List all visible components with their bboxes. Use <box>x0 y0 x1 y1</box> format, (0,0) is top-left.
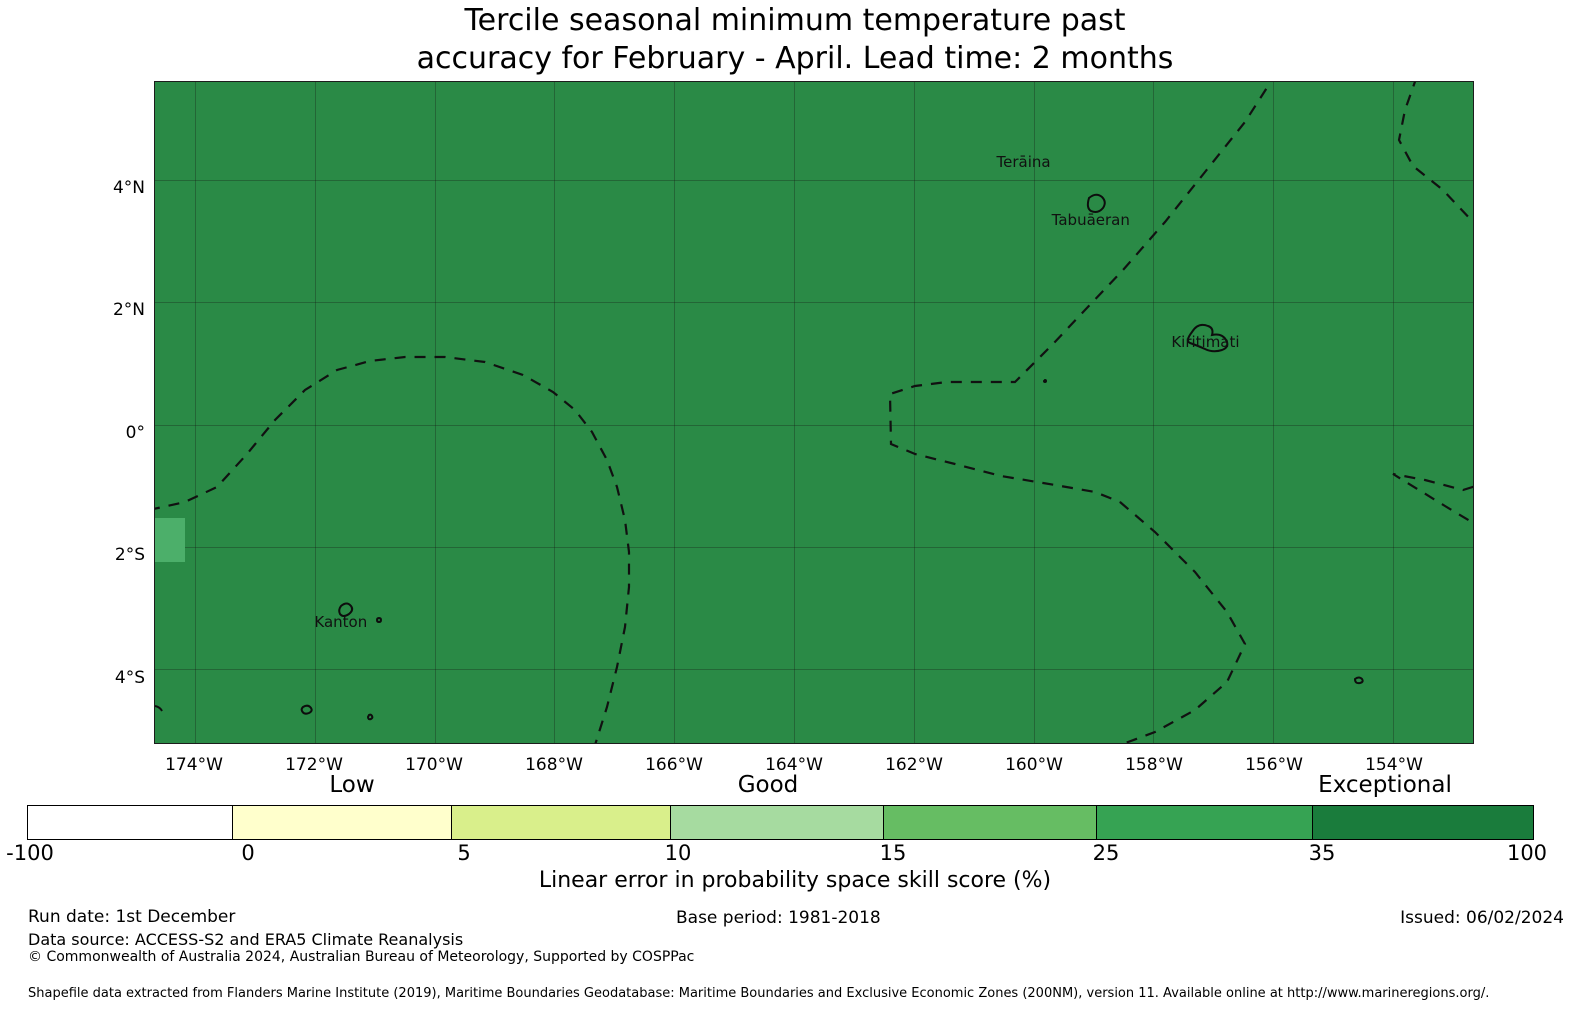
colorbar-axis-label: Linear error in probability space skill … <box>0 868 1590 893</box>
colorbar-tick: 35 <box>1309 841 1336 865</box>
colorbar-segment-3 <box>671 806 884 839</box>
x-tick-label: 166°W <box>645 755 703 775</box>
x-tick-label: 156°W <box>1245 755 1303 775</box>
map-plot-area: Terāina Tabuāeran Kiritimati Kanton <box>154 81 1474 744</box>
x-tick-label: 174°W <box>165 755 223 775</box>
x-tick-label: 158°W <box>1125 755 1183 775</box>
x-tick-label: 170°W <box>405 755 463 775</box>
island-label-teraina: Terāina <box>997 153 1051 171</box>
x-tick-label: 160°W <box>1005 755 1063 775</box>
colorbar-segment-0 <box>28 806 233 839</box>
band-label-good: Good <box>738 772 799 798</box>
island-label-kanton: Kanton <box>314 613 367 631</box>
colorbar-segment-4 <box>884 806 1097 839</box>
y-tick-label: 0° <box>103 423 145 443</box>
page-title: Tercile seasonal minimum temperature pas… <box>0 2 1590 78</box>
band-label-exceptional: Exceptional <box>1318 772 1452 798</box>
footer-issued: Issued: 06/02/2024 <box>1400 908 1564 928</box>
colorbar-tick: 0 <box>241 841 254 865</box>
eez-boundary-layer <box>155 82 1474 744</box>
colorbar-segment-6 <box>1313 806 1533 839</box>
colorbar-segment-1 <box>233 806 452 839</box>
island-label-tabuaeran: Tabuāeran <box>1052 211 1130 229</box>
colorbar-segment-2 <box>452 806 671 839</box>
colorbar-tick: 25 <box>1093 841 1120 865</box>
colorbar <box>27 805 1534 840</box>
footer-run-date: Run date: 1st December <box>28 907 235 927</box>
band-label-low: Low <box>329 772 374 798</box>
y-tick-label: 2°N <box>103 300 145 320</box>
x-tick-label: 168°W <box>525 755 583 775</box>
colorbar-tick: 100 <box>1507 841 1547 865</box>
island-label-kiritimati: Kiritimati <box>1171 333 1239 351</box>
colorbar-tick: 15 <box>880 841 907 865</box>
footer-data-source: Data source: ACCESS-S2 and ERA5 Climate … <box>28 930 463 949</box>
footer-copyright: © Commonwealth of Australia 2024, Austra… <box>28 949 694 965</box>
footer-base-period: Base period: 1981-2018 <box>676 908 881 928</box>
colorbar-tick: 10 <box>665 841 692 865</box>
x-tick-label: 162°W <box>885 755 943 775</box>
colorbar-segment-5 <box>1097 806 1314 839</box>
y-tick-label: 4°N <box>103 178 145 198</box>
colorbar-tick: -100 <box>6 841 54 865</box>
y-tick-label: 4°S <box>103 668 145 688</box>
colorbar-tick: 5 <box>457 841 470 865</box>
footer-shapefile-attribution: Shapefile data extracted from Flanders M… <box>28 986 1489 1001</box>
y-tick-label: 2°S <box>103 545 145 565</box>
